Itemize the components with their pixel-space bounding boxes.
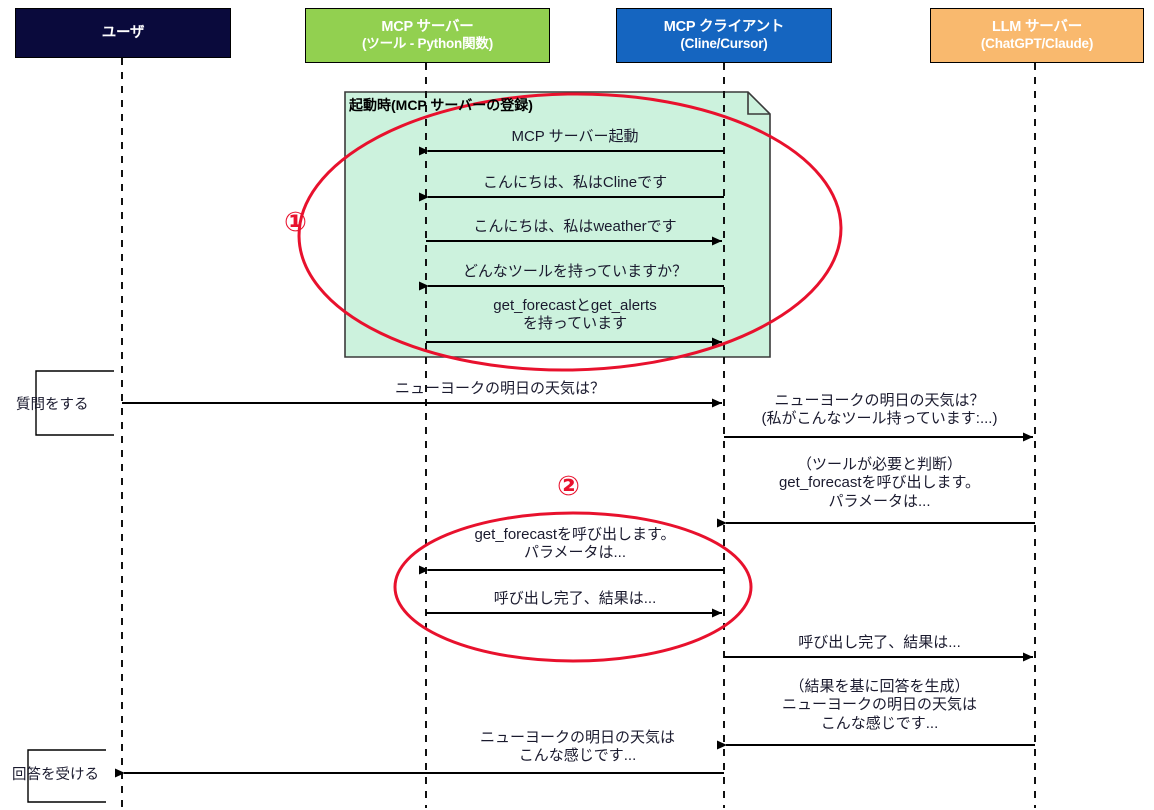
annotation-number-annotation-1: ①: [284, 209, 307, 236]
participant-name-line1: MCP クライアント: [664, 18, 784, 36]
annotation-number-annotation-2: ②: [557, 473, 580, 500]
participant-name-line2: (ツール - Python関数): [362, 36, 493, 53]
message-label-llm-requests-tool-call: （ツールが必要と判断） get_forecastを呼び出します。 パラメータは.…: [724, 456, 1035, 511]
message-label-answer-to-user: ニューヨークの明日の天気は こんな感じです...: [430, 729, 725, 766]
participant-name-line1: MCP サーバー: [362, 18, 493, 36]
fragment-title-label: 起動時(MCP サーバーの登録): [349, 95, 533, 115]
message-label-client-calls-tool: get_forecastを呼び出します。 パラメータは...: [420, 526, 730, 563]
message-label-hello-i-am-weather: こんにちは、私はweatherです: [426, 218, 724, 236]
participant-box-mcp-server: MCP サーバー(ツール - Python関数): [305, 8, 550, 63]
message-label-what-tools-do-you-have: どんなツールを持っていますか？: [420, 263, 730, 281]
message-label-llm-final-answer: （結果を基に回答を生成） ニューヨークの明日の天気は こんな感じです...: [724, 678, 1035, 733]
message-label-tool-result-to-client: 呼び出し完了、結果は...: [426, 590, 724, 608]
participant-name-line2: (ChatGPT/Claude): [981, 36, 1093, 53]
participant-box-llm-server: LLM サーバー(ChatGPT/Claude): [930, 8, 1144, 63]
sequence-diagram-canvas: ユーザMCP サーバー(ツール - Python関数)MCP クライアント(Cl…: [0, 0, 1154, 810]
participant-name-line1: ユーザ: [102, 24, 145, 42]
message-label-mcp-server-start: MCP サーバー起動: [426, 128, 724, 146]
participant-name-line1: LLM サーバー: [981, 18, 1093, 36]
side-label-ask-question: 質問をする: [16, 393, 89, 414]
participant-box-user: ユーザ: [15, 8, 231, 58]
message-label-forward-question-to-llm: ニューヨークの明日の天気は？ (私がこんなツール持っています:...): [724, 392, 1035, 429]
message-label-ask-question-user-to-client: ニューヨークの明日の天気は？: [275, 380, 725, 398]
message-label-i-have-get-forecast-and-get-alerts: get_forecastとget_alerts を持っています: [426, 297, 724, 334]
side-label-receive-answer: 回答を受ける: [12, 763, 99, 784]
message-label-hello-i-am-cline: こんにちは、私はClineです: [426, 174, 724, 192]
participant-box-mcp-client: MCP クライアント(Cline/Cursor): [616, 8, 832, 63]
message-label-tool-result-to-llm: 呼び出し完了、結果は...: [724, 634, 1035, 652]
participant-name-line2: (Cline/Cursor): [664, 36, 784, 53]
